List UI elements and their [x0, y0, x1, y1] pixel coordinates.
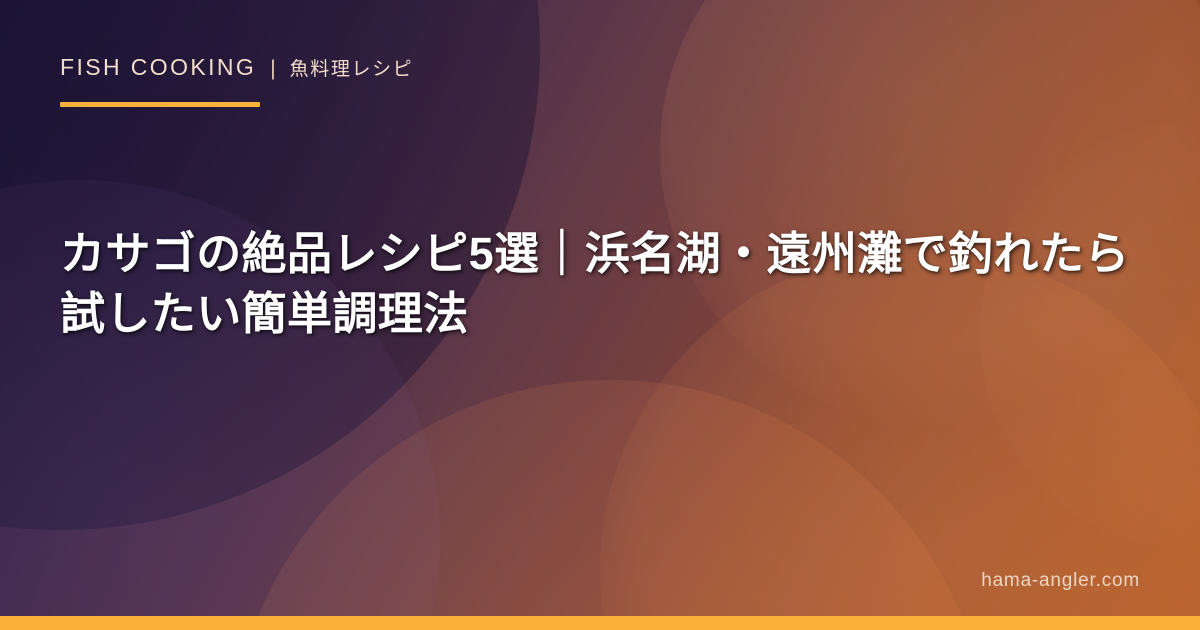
category-separator: | — [270, 57, 275, 81]
site-domain: hama-angler.com — [981, 570, 1140, 592]
category-kicker: FISH COOKING | 魚料理レシピ — [60, 54, 413, 107]
category-label-ja: 魚料理レシピ — [290, 54, 414, 81]
og-image-card: FISH COOKING | 魚料理レシピ カサゴの絶品レシピ5選｜浜名湖・遠州… — [0, 0, 1200, 630]
accent-underline-bar — [60, 102, 260, 107]
page-title: カサゴの絶品レシピ5選｜浜名湖・遠州灘で釣れたら試したい簡単調理法 — [60, 224, 1150, 345]
bottom-accent-strip — [0, 616, 1200, 630]
background-circle-upper-right — [660, 0, 1200, 430]
category-label-en: FISH COOKING — [60, 54, 256, 81]
category-kicker-line: FISH COOKING | 魚料理レシピ — [60, 54, 413, 81]
background-circle-bottom-center — [230, 380, 990, 630]
